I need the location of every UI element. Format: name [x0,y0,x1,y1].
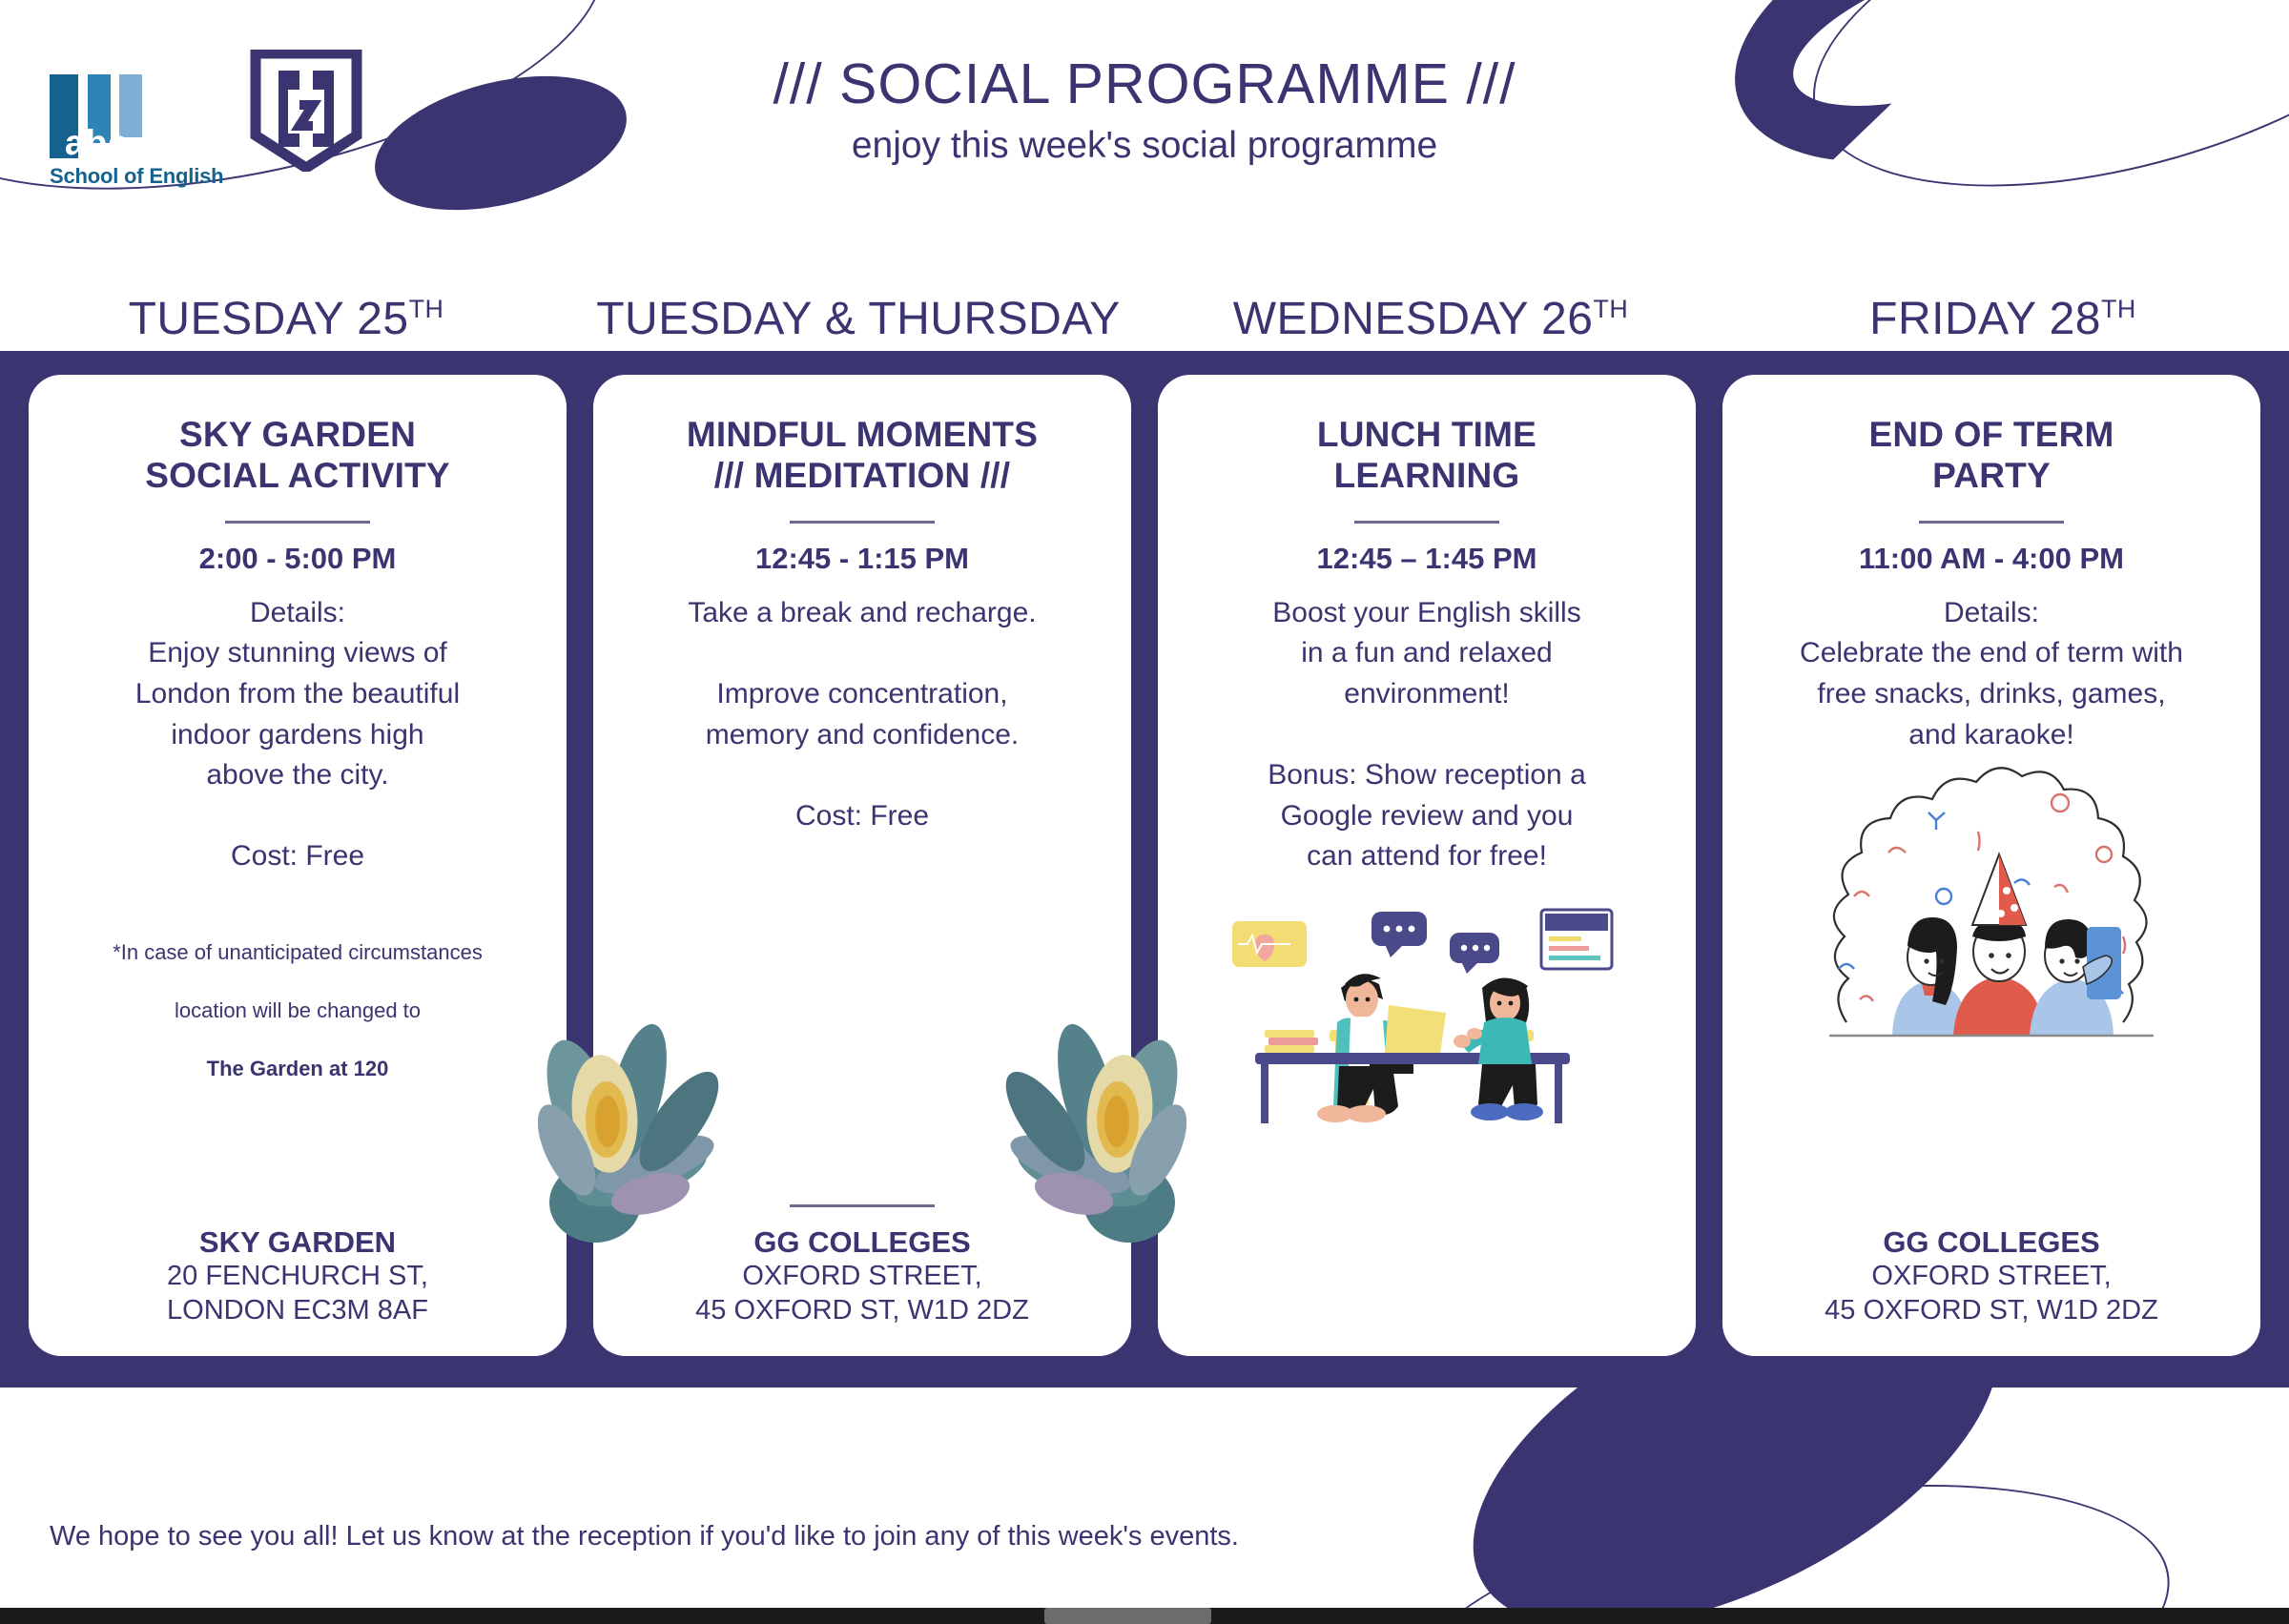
note-line-1: *In case of unanticipated circumstances [113,940,483,964]
title-divider [225,521,370,524]
abc-logo-caption: School of English [50,164,223,189]
poster-footer: We hope to see you all! Let us know at t… [0,1388,2289,1624]
social-programme-poster: abc School of English /// SOCIAL PROGRAM… [0,0,2289,1624]
footer-note: We hope to see you all! Let us know at t… [50,1521,1239,1552]
title-divider [790,521,935,524]
poster-header: abc School of English /// SOCIAL PROGRAM… [0,0,2289,259]
event-details: Details: Enjoy stunning views of London … [135,593,460,877]
event-details: Details: Celebrate the end of term with … [1800,593,2183,755]
event-card-mindful-moments[interactable]: MINDFUL MOMENTS /// MEDITATION /// 12:45… [593,375,1131,1356]
event-details: Boost your English skills in a fun and r… [1268,593,1586,877]
header-title-block: /// SOCIAL PROGRAMME /// enjoy this week… [0,53,2289,167]
note-line-2: location will be changed to [175,998,421,1022]
event-card-lunch-time-learning[interactable]: LUNCH TIME LEARNING 12:45 – 1:45 PM Boos… [1158,375,1696,1356]
event-location-note: *In case of unanticipated circumstances … [113,910,483,1083]
event-details: Take a break and recharge. Improve conce… [688,593,1036,837]
event-title: MINDFUL MOMENTS /// MEDITATION /// [687,415,1038,497]
day-header-cell-2: TUESDAY & THURSDAY [572,259,1144,351]
event-title: LUNCH TIME LEARNING [1317,415,1536,497]
event-address: OXFORD STREET, 45 OXFORD ST, W1D 2DZ [1825,1260,2158,1327]
party-illustration-wrapper [1740,767,2243,1045]
event-venue: SKY GARDEN [199,1224,396,1260]
title-divider [1919,521,2064,524]
two-students-at-desk-icon [1227,889,1627,1127]
day-label-friday-28: FRIDAY 28TH [1869,293,2136,345]
page-title: /// SOCIAL PROGRAMME /// [0,53,2289,115]
event-time: 12:45 – 1:45 PM [1317,542,1537,576]
day-header-cell-4: FRIDAY 28TH [1717,259,2289,351]
venue-divider [790,1204,935,1207]
window-bottom-bar [0,1608,2289,1624]
event-card-end-of-term-party[interactable]: END OF TERM PARTY 11:00 AM - 4:00 PM Det… [1722,375,2260,1356]
event-time: 2:00 - 5:00 PM [199,542,397,576]
event-time: 12:45 - 1:15 PM [755,542,969,576]
event-address: 20 FENCHURCH ST, LONDON EC3M 8AF [167,1260,428,1327]
three-friends-party-selfie-icon [1801,767,2182,1045]
event-title: END OF TERM PARTY [1868,415,2114,497]
event-time: 11:00 AM - 4:00 PM [1859,542,2124,576]
day-header-cell-1: TUESDAY 25TH [0,259,572,351]
event-address: OXFORD STREET, 45 OXFORD ST, W1D 2DZ [695,1260,1029,1327]
day-label-wednesday-26: WEDNESDAY 26TH [1233,293,1629,345]
day-label-tuesday-thursday: TUESDAY & THURSDAY [596,293,1121,345]
horizontal-scrollbar-thumb[interactable] [1044,1608,1211,1624]
students-at-desk-illustration-wrapper [1175,889,1679,1127]
event-title: SKY GARDEN SOCIAL ACTIVITY [145,415,450,497]
day-label-tuesday-25: TUESDAY 25TH [129,293,444,345]
page-subtitle: enjoy this week's social programme [0,125,2289,167]
event-venue: GG COLLEGES [753,1224,970,1260]
note-alt-venue: The Garden at 120 [207,1057,389,1080]
event-card-sky-garden[interactable]: SKY GARDEN SOCIAL ACTIVITY 2:00 - 5:00 P… [29,375,567,1356]
event-cards-band: SKY GARDEN SOCIAL ACTIVITY 2:00 - 5:00 P… [0,351,2289,1388]
title-divider [1354,521,1499,524]
day-header-cell-3: WEDNESDAY 26TH [1144,259,1717,351]
event-venue: GG COLLEGES [1883,1224,2099,1260]
day-header-row: TUESDAY 25TH TUESDAY & THURSDAY WEDNESDA… [0,259,2289,351]
